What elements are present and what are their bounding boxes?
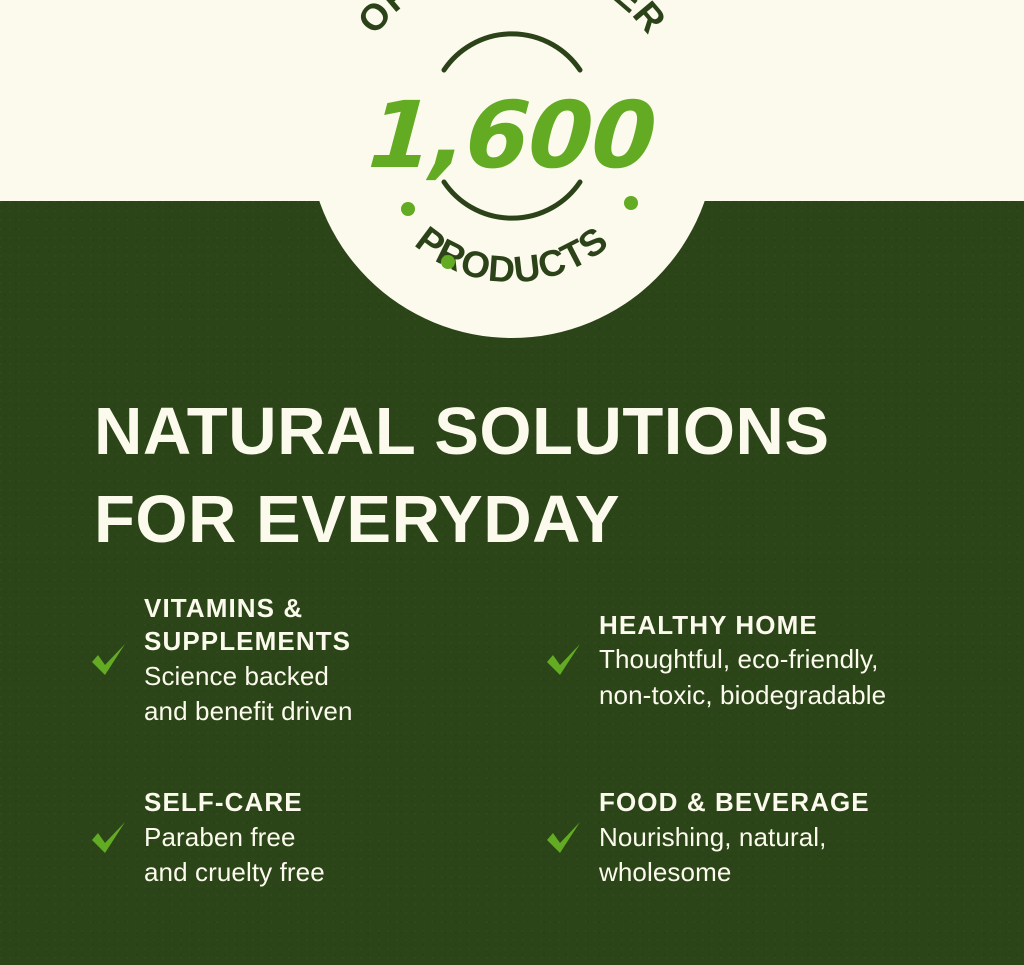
feature-list: VITAMINS & SUPPLEMENTS Science backed an… bbox=[0, 592, 1024, 891]
feature-title: SELF-CARE bbox=[144, 786, 325, 819]
headline-line-2: FOR EVERYDAY bbox=[94, 476, 974, 564]
badge-arc-bottom-text: PRODUCTS bbox=[408, 218, 615, 290]
badge-inner-arc-bottom bbox=[444, 182, 580, 218]
feature-title: HEALTHY HOME bbox=[599, 609, 886, 642]
badge-artwork: OFFERING OVER PRODUCTS bbox=[308, 0, 716, 338]
promo-banner: OFFERING OVER PRODUCTS 1,600 NATURAL SOL… bbox=[0, 0, 1024, 965]
feature-item-food-beverage: FOOD & BEVERAGE Nourishing, natural, who… bbox=[543, 786, 998, 891]
check-icon bbox=[543, 818, 585, 860]
headline-line-1: NATURAL SOLUTIONS bbox=[94, 388, 974, 476]
badge-inner-arc-top bbox=[444, 34, 580, 70]
feature-description: Paraben free and cruelty free bbox=[144, 820, 325, 892]
feature-description: Nourishing, natural, wholesome bbox=[599, 820, 870, 892]
page-title: NATURAL SOLUTIONS FOR EVERYDAY bbox=[94, 388, 974, 565]
check-icon bbox=[88, 818, 130, 860]
feature-text-block: FOOD & BEVERAGE Nourishing, natural, who… bbox=[599, 786, 870, 891]
feature-description: Science backed and benefit driven bbox=[144, 659, 353, 731]
feature-text-block: HEALTHY HOME Thoughtful, eco-friendly, n… bbox=[599, 609, 886, 714]
check-icon bbox=[88, 640, 130, 682]
feature-title: VITAMINS & SUPPLEMENTS bbox=[144, 592, 353, 659]
feature-item-vitamins-supplements: VITAMINS & SUPPLEMENTS Science backed an… bbox=[88, 592, 543, 730]
feature-item-healthy-home: HEALTHY HOME Thoughtful, eco-friendly, n… bbox=[543, 592, 998, 730]
badge-dot-right bbox=[624, 196, 638, 210]
check-icon bbox=[543, 640, 585, 682]
feature-text-block: SELF-CARE Paraben free and cruelty free bbox=[144, 786, 325, 891]
badge-dot-bottom-left bbox=[441, 255, 455, 269]
feature-title: FOOD & BEVERAGE bbox=[599, 786, 870, 819]
feature-text-block: VITAMINS & SUPPLEMENTS Science backed an… bbox=[144, 592, 353, 730]
feature-description: Thoughtful, eco-friendly, non-toxic, bio… bbox=[599, 642, 886, 714]
feature-item-self-care: SELF-CARE Paraben free and cruelty free bbox=[88, 786, 543, 891]
badge-dot-left bbox=[401, 202, 415, 216]
